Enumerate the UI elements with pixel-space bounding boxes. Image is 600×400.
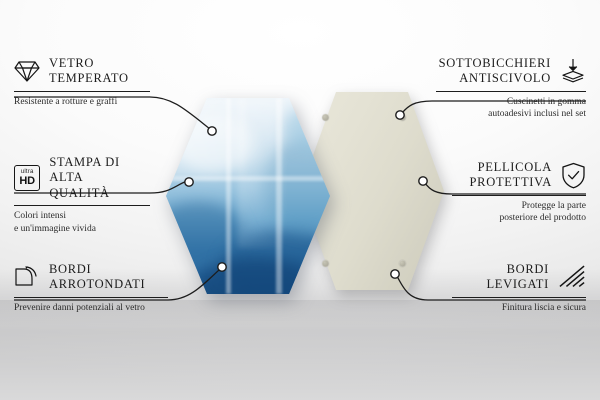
divider-rule: [452, 195, 586, 196]
ultra-hd-top-label: ultra: [21, 169, 34, 175]
shield-check-icon: [561, 162, 586, 189]
feature-subtitle: Protegge la parte posteriore del prodott…: [452, 200, 586, 226]
feature-title: SOTTOBICCHIERI ANTISCIVOLO: [439, 56, 551, 87]
divider-rule: [14, 205, 150, 206]
connector-dot-bordi-arrotondati: [218, 263, 226, 271]
title-line-2: TEMPERATO: [49, 71, 129, 86]
feature-vetro-temperato[interactable]: VETRO TEMPERATO Resistente a rotture e g…: [14, 56, 150, 108]
feature-subtitle: Finitura liscia e sicura: [452, 302, 586, 315]
divider-rule: [14, 297, 168, 298]
feature-subtitle: Cuscinetti in gomma autoadesivi inclusi …: [436, 96, 586, 122]
subtitle-line-2: autoadesivi inclusi nel set: [436, 108, 586, 121]
feature-subtitle: Colori intensi e un'immagine vivida: [14, 210, 150, 236]
title-line-2: ANTISCIVOLO: [439, 71, 551, 86]
subtitle-line-2: e un'immagine vivida: [14, 223, 150, 236]
bevel-lines-icon: [558, 265, 586, 289]
feature-bordi-arrotondati[interactable]: BORDI ARROTONDATI Prevenire danni potenz…: [14, 262, 168, 314]
feature-title: BORDI LEVIGATI: [486, 262, 549, 293]
rounded-corner-icon: [14, 265, 40, 289]
title-line-1: PELLICOLA: [470, 160, 552, 175]
connector-dot-stampa: [185, 178, 193, 186]
connector-dot-sottobicchieri: [396, 111, 404, 119]
connector-dot-pellicola: [419, 177, 427, 185]
subtitle-line-1: Resistente a rotture e graffi: [14, 96, 150, 109]
press-pad-icon: [560, 58, 586, 84]
feature-bordi-levigati[interactable]: BORDI LEVIGATI Finitura liscia e sicura: [452, 262, 586, 314]
feature-title: VETRO TEMPERATO: [49, 56, 129, 87]
divider-rule: [14, 91, 150, 92]
feature-subtitle: Resistente a rotture e graffi: [14, 96, 150, 109]
feature-title: BORDI ARROTONDATI: [49, 262, 145, 293]
connector-dot-vetro-temperato: [208, 127, 216, 135]
ultra-hd-icon: ultra HD: [14, 165, 40, 191]
feature-title: PELLICOLA PROTETTIVA: [470, 160, 552, 191]
title-line-2: PROTETTIVA: [470, 175, 552, 190]
title-line-1: BORDI: [486, 262, 549, 277]
feature-stampa-alta-qualita[interactable]: ultra HD STAMPA DI ALTA QUALITÀ Colori i…: [14, 155, 150, 235]
divider-rule: [436, 91, 586, 92]
subtitle-line-1: Colori intensi: [14, 210, 150, 223]
title-line-1: VETRO: [49, 56, 129, 71]
feature-sottobicchieri-antiscivolo[interactable]: SOTTOBICCHIERI ANTISCIVOLO Cuscinetti in…: [436, 56, 586, 121]
subtitle-line-1: Finitura liscia e sicura: [452, 302, 586, 315]
subtitle-line-1: Protegge la parte: [452, 200, 586, 213]
feature-subtitle: Prevenire danni potenziali al vetro: [14, 302, 168, 315]
title-line-1: STAMPA DI ALTA: [49, 155, 150, 186]
divider-rule: [452, 297, 586, 298]
title-line-1: SOTTOBICCHIERI: [439, 56, 551, 71]
subtitle-line-1: Prevenire danni potenziali al vetro: [14, 302, 168, 315]
title-line-2: QUALITÀ: [49, 186, 150, 201]
connector-dot-bordi-levigati: [391, 270, 399, 278]
ultra-hd-bottom-label: HD: [19, 176, 35, 187]
diamond-icon: [14, 59, 40, 83]
infographic-canvas: VETRO TEMPERATO Resistente a rotture e g…: [0, 0, 600, 400]
title-line-1: BORDI: [49, 262, 145, 277]
subtitle-line-2: posteriore del prodotto: [452, 212, 586, 225]
title-line-2: LEVIGATI: [486, 277, 549, 292]
title-line-2: ARROTONDATI: [49, 277, 145, 292]
feature-pellicola-protettiva[interactable]: PELLICOLA PROTETTIVA Protegge la parte p…: [452, 160, 586, 225]
subtitle-line-1: Cuscinetti in gomma: [436, 96, 586, 109]
feature-title: STAMPA DI ALTA QUALITÀ: [49, 155, 150, 201]
